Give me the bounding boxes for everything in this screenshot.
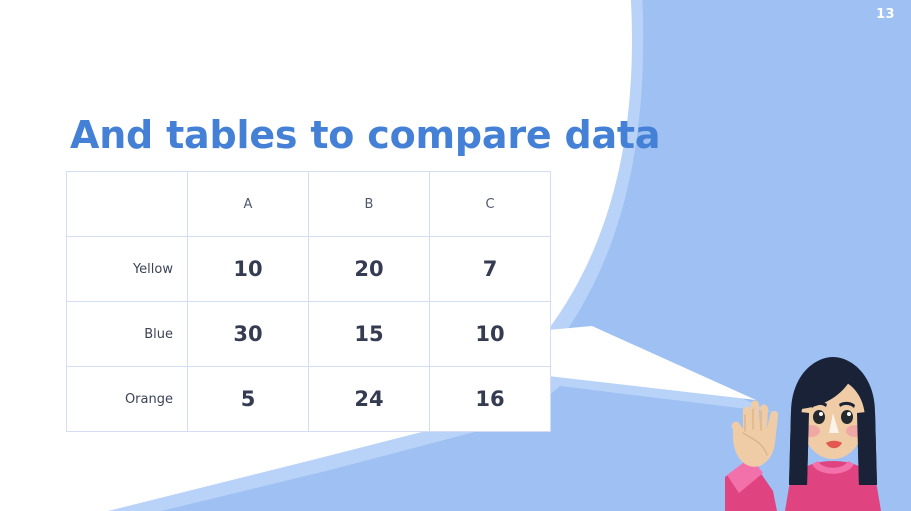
table-corner-cell bbox=[67, 172, 188, 237]
table-header: A B C bbox=[67, 172, 551, 237]
cell-yellow-b: 20 bbox=[309, 237, 430, 302]
table-row: Blue 30 15 10 bbox=[67, 302, 551, 367]
row-header-blue: Blue bbox=[67, 302, 188, 367]
table-body: Yellow 10 20 7 Blue 30 15 10 Orange 5 24… bbox=[67, 237, 551, 432]
cell-orange-a: 5 bbox=[188, 367, 309, 432]
slide-canvas: 13 And tables to compare data A B C bbox=[0, 0, 911, 511]
data-table-container: A B C Yellow 10 20 7 Blue 30 15 10 bbox=[66, 171, 551, 432]
girl-hair-strand-left bbox=[789, 411, 809, 485]
girl-waving-hand bbox=[732, 401, 778, 467]
girl-eye-left bbox=[813, 410, 825, 424]
waving-girl-illustration bbox=[681, 351, 911, 511]
page-title: And tables to compare data bbox=[70, 113, 660, 157]
girl-hair-strand-right bbox=[857, 411, 877, 485]
row-header-orange: Orange bbox=[67, 367, 188, 432]
cell-blue-a: 30 bbox=[188, 302, 309, 367]
comparison-table: A B C Yellow 10 20 7 Blue 30 15 10 bbox=[66, 171, 551, 432]
cell-orange-b: 24 bbox=[309, 367, 430, 432]
girl-eye-right bbox=[841, 410, 853, 424]
cell-yellow-a: 10 bbox=[188, 237, 309, 302]
cell-blue-b: 15 bbox=[309, 302, 430, 367]
cell-yellow-c: 7 bbox=[430, 237, 551, 302]
table-header-row: A B C bbox=[67, 172, 551, 237]
cell-orange-c: 16 bbox=[430, 367, 551, 432]
column-header-b: B bbox=[309, 172, 430, 237]
girl-eye-highlight-left bbox=[819, 412, 823, 416]
table-row: Orange 5 24 16 bbox=[67, 367, 551, 432]
column-header-a: A bbox=[188, 172, 309, 237]
cell-blue-c: 10 bbox=[430, 302, 551, 367]
table-row: Yellow 10 20 7 bbox=[67, 237, 551, 302]
row-header-yellow: Yellow bbox=[67, 237, 188, 302]
column-header-c: C bbox=[430, 172, 551, 237]
page-number: 13 bbox=[876, 7, 895, 22]
girl-eye-highlight-right bbox=[847, 412, 851, 416]
